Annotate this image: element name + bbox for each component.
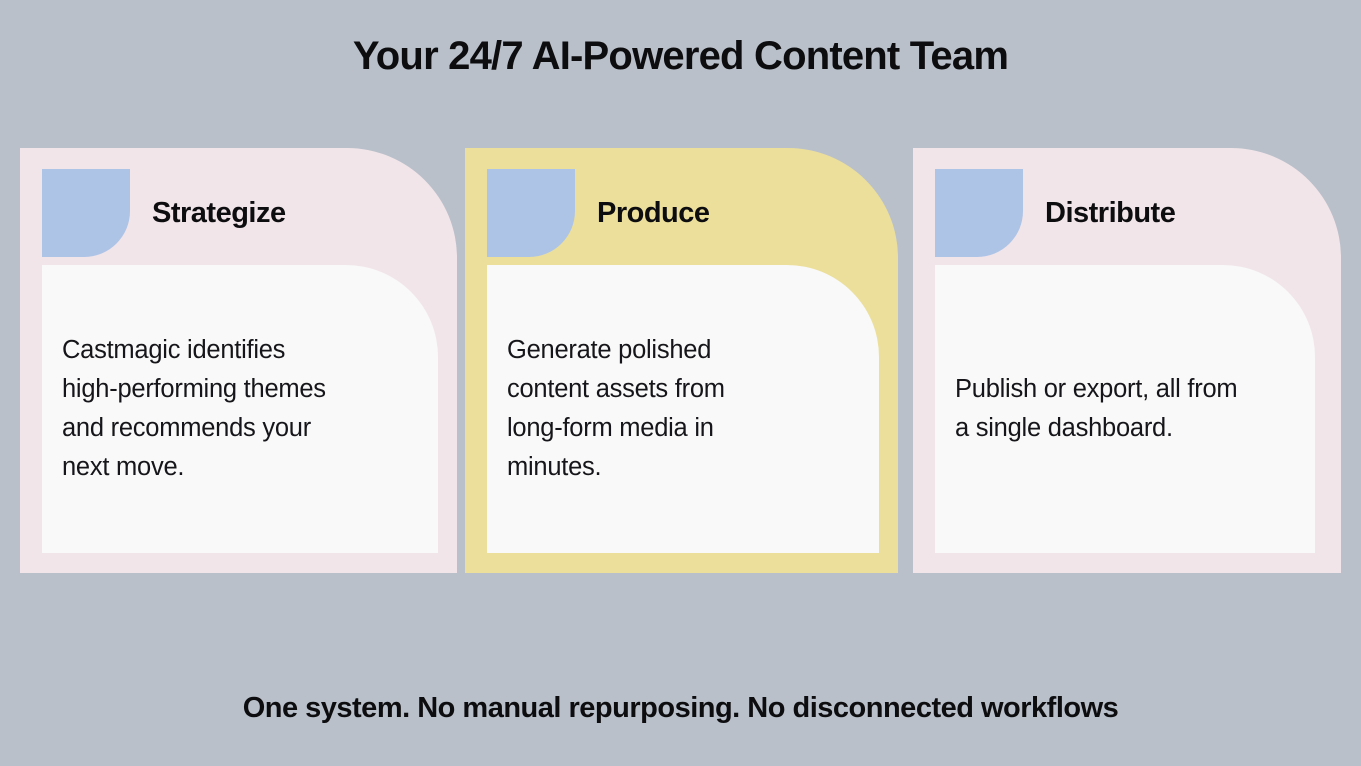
card-title: Distribute [1045,197,1175,230]
page-title: Your 24/7 AI-Powered Content Team [0,33,1361,79]
slide-canvas: Your 24/7 AI-Powered Content Team Strate… [0,0,1361,766]
card-header: Produce [487,168,710,258]
card-title: Produce [597,197,710,230]
rounded-corner-square-icon [935,169,1023,257]
feature-card-strategize[interactable]: Strategize Castmagic identifies high-per… [20,148,457,573]
rounded-corner-square-icon [487,169,575,257]
feature-card-distribute[interactable]: Distribute Publish or export, all from a… [913,148,1341,573]
feature-card-produce[interactable]: Produce Generate polished content assets… [465,148,898,573]
card-body-panel: Publish or export, all from a single das… [935,265,1315,553]
card-title: Strategize [152,197,286,230]
rounded-corner-square-icon [42,169,130,257]
card-body-text: Publish or export, all from a single das… [935,370,1315,448]
card-body-text: Generate polished content assets from lo… [487,331,879,487]
card-body-text: Castmagic identifies high-performing the… [42,331,438,487]
card-header: Distribute [935,168,1175,258]
card-header: Strategize [42,168,286,258]
card-body-panel: Generate polished content assets from lo… [487,265,879,553]
footer-note: One system. No manual repurposing. No di… [0,692,1361,725]
card-body-panel: Castmagic identifies high-performing the… [42,265,438,553]
feature-card-row: Strategize Castmagic identifies high-per… [20,148,1341,573]
